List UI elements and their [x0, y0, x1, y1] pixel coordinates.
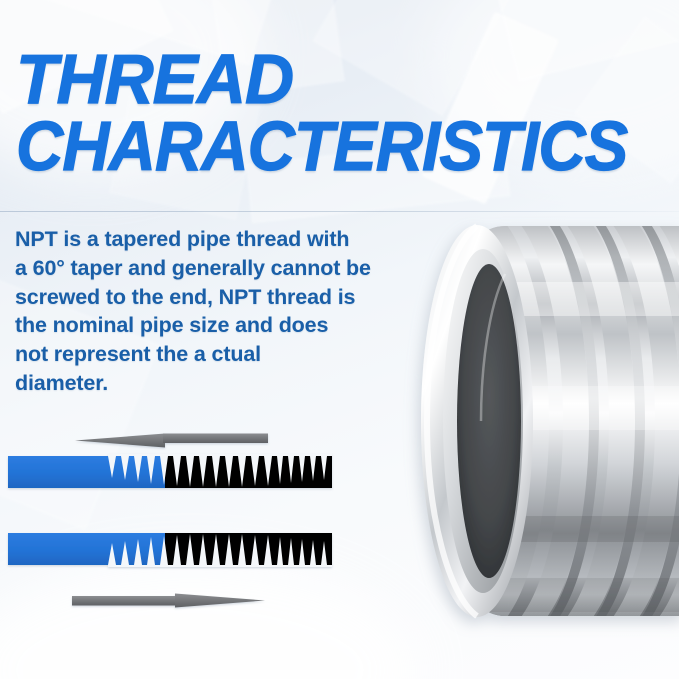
- description-text: NPT is a tapered pipe thread with a 60° …: [15, 225, 375, 398]
- description-line: screwed to the end, NPT thread is: [15, 283, 375, 312]
- page-title-line-1: THREAD: [16, 47, 656, 111]
- description-line: not represent the a ctual: [15, 340, 375, 369]
- page-title: THREAD CHARACTERISTICS: [16, 47, 676, 178]
- page-title-line-2: CHARACTERISTICS: [16, 114, 633, 178]
- description-line: diameter.: [15, 369, 375, 398]
- thread-row-upper: [0, 448, 360, 498]
- threaded-stainless-pipe-nipple: [337, 186, 679, 656]
- description-line: a 60° taper and generally cannot be: [15, 254, 375, 283]
- arrow-left-icon: [75, 434, 268, 448]
- pipe-bore: [457, 264, 521, 578]
- arrow-right-icon: [72, 594, 265, 608]
- npt-thread-engagement-diagram: [0, 408, 360, 638]
- description-line: NPT is a tapered pipe thread with: [15, 225, 375, 254]
- description-line: the nominal pipe size and does: [15, 311, 375, 340]
- thread-row-lower: [8, 533, 332, 567]
- thread-characteristics-infographic: THREAD CHARACTERISTICS NPT is a tapered …: [0, 0, 679, 679]
